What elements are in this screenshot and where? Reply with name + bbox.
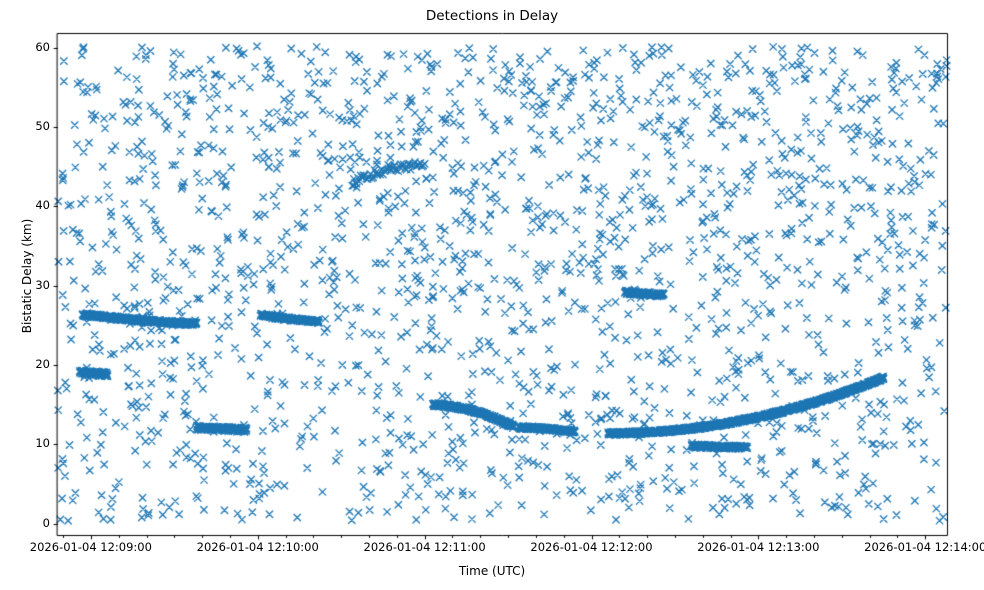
figure-canvas-container: Detections in Delay Time (UTC) Bistatic …: [0, 0, 984, 590]
scatter-plot-canvas: [0, 0, 984, 590]
